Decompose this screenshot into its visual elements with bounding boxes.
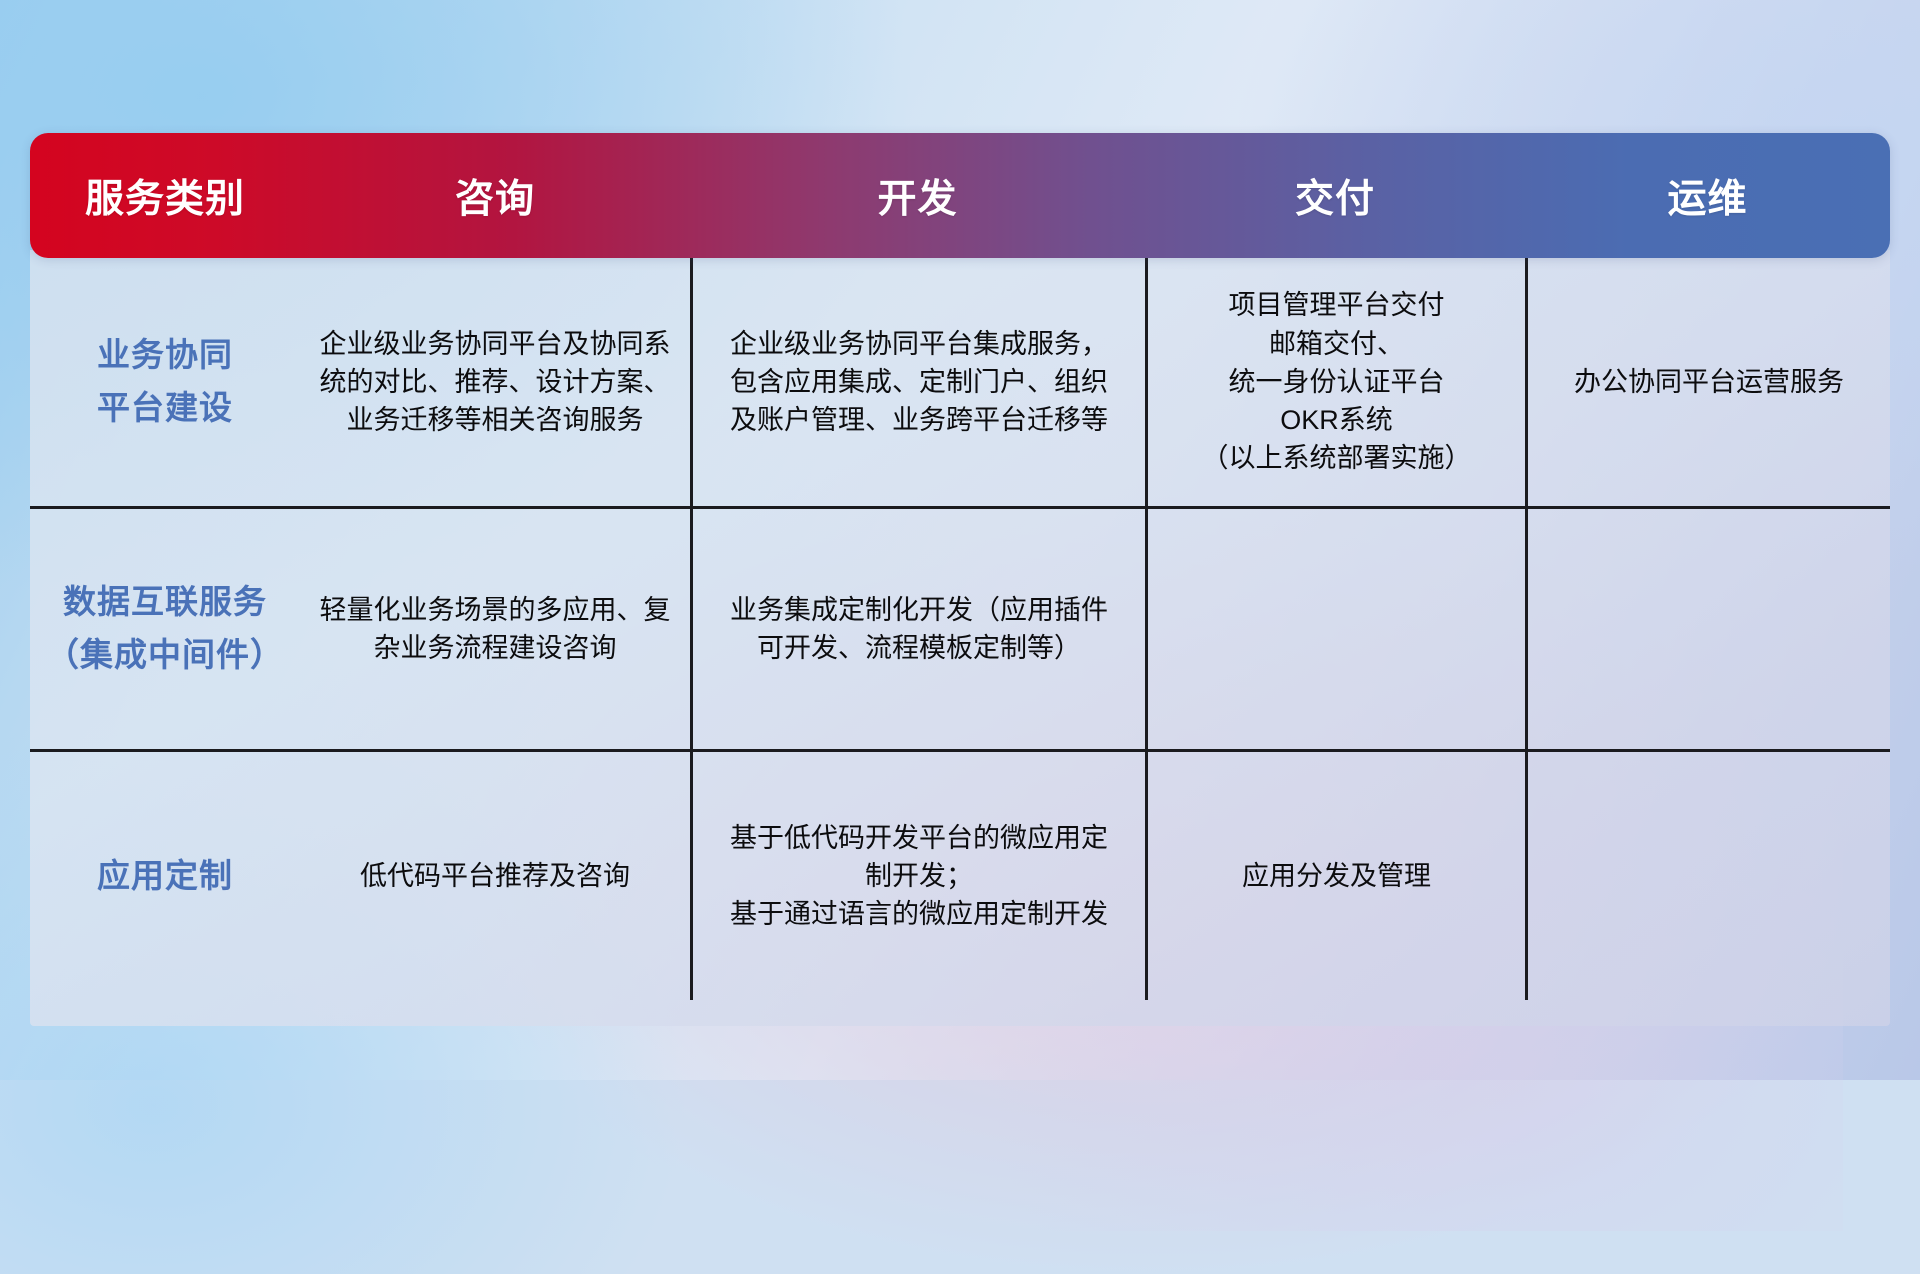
cell-development: 业务集成定制化开发（应用插件 可开发、流程模板定制等） xyxy=(690,509,1145,749)
header-consulting: 咨询 xyxy=(300,168,690,224)
cell-development: 企业级业务协同平台集成服务， 包含应用集成、定制门户、组织 及账户管理、业务跨平… xyxy=(690,258,1145,506)
header-development: 开发 xyxy=(690,168,1145,224)
table-row: 业务协同 平台建设 企业级业务协同平台及协同系 统的对比、推荐、设计方案、 业务… xyxy=(30,258,1890,506)
table-row: 应用定制 低代码平台推荐及咨询 基于低代码开发平台的微应用定 制开发； 基于通过… xyxy=(30,749,1890,1000)
header-service-category: 服务类别 xyxy=(30,168,300,224)
row-category-label: 业务协同 平台建设 xyxy=(30,258,300,506)
cell-development: 基于低代码开发平台的微应用定 制开发； 基于通过语言的微应用定制开发 xyxy=(690,752,1145,1000)
row-category-label: 应用定制 xyxy=(30,752,300,1000)
table-header-row: 服务类别 咨询 开发 交付 运维 xyxy=(30,133,1890,258)
cell-delivery: 项目管理平台交付 邮箱交付、 统一身份认证平台 OKR系统 （以上系统部署实施） xyxy=(1145,258,1525,506)
cell-consulting: 轻量化业务场景的多应用、复 杂业务流程建设咨询 xyxy=(300,509,690,749)
cell-operations: 办公协同平台运营服务 xyxy=(1525,258,1890,506)
row-category-label: 数据互联服务 （集成中间件） xyxy=(30,509,300,749)
cell-operations xyxy=(1525,752,1890,1000)
table-body: 业务协同 平台建设 企业级业务协同平台及协同系 统的对比、推荐、设计方案、 业务… xyxy=(30,250,1890,1026)
cell-consulting: 企业级业务协同平台及协同系 统的对比、推荐、设计方案、 业务迁移等相关咨询服务 xyxy=(300,258,690,506)
header-delivery: 交付 xyxy=(1145,168,1525,224)
table-row: 数据互联服务 （集成中间件） 轻量化业务场景的多应用、复 杂业务流程建设咨询 业… xyxy=(30,506,1890,749)
cell-consulting: 低代码平台推荐及咨询 xyxy=(300,752,690,1000)
cell-operations xyxy=(1525,509,1890,749)
header-operations: 运维 xyxy=(1525,168,1890,224)
cell-delivery xyxy=(1145,509,1525,749)
service-matrix-table: 服务类别 咨询 开发 交付 运维 业务协同 平台建设 企业级业务协同平台及协同系… xyxy=(30,133,1890,1026)
cell-delivery: 应用分发及管理 xyxy=(1145,752,1525,1000)
